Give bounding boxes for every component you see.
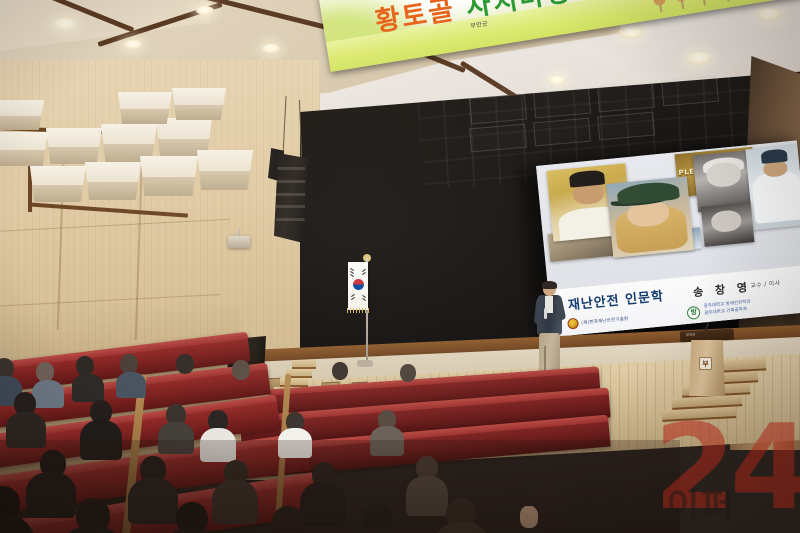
house-floor-shadow <box>0 440 680 533</box>
podium: 부안군 부 <box>684 330 730 396</box>
presentation-slide: PLEASE HELP US <box>536 140 800 337</box>
acoustic-panel <box>197 150 253 190</box>
rig-frame <box>597 112 655 141</box>
rig-frame <box>469 124 527 153</box>
downlight <box>52 18 78 31</box>
taeguk-symbol-icon <box>353 279 364 290</box>
acoustic-panel <box>30 166 86 202</box>
slide-logo-left-text: (재)한국재난안전기술원 <box>581 316 629 327</box>
flag-fringe <box>347 308 369 313</box>
downlight <box>124 40 142 49</box>
slide-presenter-name: 송 창 영 <box>692 279 751 301</box>
korean-national-flag <box>348 262 368 310</box>
tree-graphic <box>652 0 667 13</box>
slide-logo-right-text: 광주대학교 방재안전학과 광주대학교 건축공학과 <box>704 300 752 318</box>
projection-screen: PLEASE HELP US <box>536 140 800 337</box>
acoustic-panel <box>172 88 226 120</box>
audience-head <box>36 362 54 382</box>
slide-logo-left: (재)한국재난안전기술원 <box>567 313 629 330</box>
acoustic-panel <box>118 92 172 124</box>
ceiling-projector <box>228 236 250 248</box>
rig-frame <box>533 118 591 147</box>
photo-smiling-child <box>701 202 754 246</box>
acoustic-panel <box>85 162 141 200</box>
downlight <box>262 44 280 53</box>
slide-title: 재난안전 인문학 <box>567 286 665 314</box>
audience-head <box>400 364 416 382</box>
slide-logo-right: 방 광주대학교 방재안전학과 광주대학교 건축공학과 <box>687 300 752 320</box>
photo-blonde-girl-cap <box>606 176 694 258</box>
acoustic-panel <box>140 156 198 196</box>
photo-korean-scholar <box>745 144 800 231</box>
audience-head <box>120 354 138 374</box>
acoustic-panel <box>0 100 44 130</box>
acoustic-panel <box>0 132 48 166</box>
audience-body <box>72 374 104 402</box>
audience-head <box>76 356 94 376</box>
acoustic-panel <box>46 128 102 164</box>
slide-presenter-role: 교수 / 이사 <box>750 278 781 290</box>
institute-emblem-icon <box>567 318 579 330</box>
downlight <box>196 6 214 15</box>
line-array-speaker <box>274 153 308 243</box>
podium-logo-icon: 부 <box>699 357 712 370</box>
audience-head <box>176 354 194 374</box>
audience-head <box>332 362 348 380</box>
audience-body <box>116 372 146 398</box>
auditorium-photo: 황토골 자치마당 운영 부안군 PLEASE HELP US <box>0 0 800 533</box>
university-emblem-icon: 방 <box>687 305 701 319</box>
microphone-icon <box>544 308 547 319</box>
audience-head <box>232 360 250 380</box>
presenter-hair <box>542 281 557 289</box>
slide-photo-collage: PLEASE HELP US <box>536 140 800 289</box>
audience-body <box>32 380 64 408</box>
podium-tag: 부안군 <box>686 333 696 338</box>
